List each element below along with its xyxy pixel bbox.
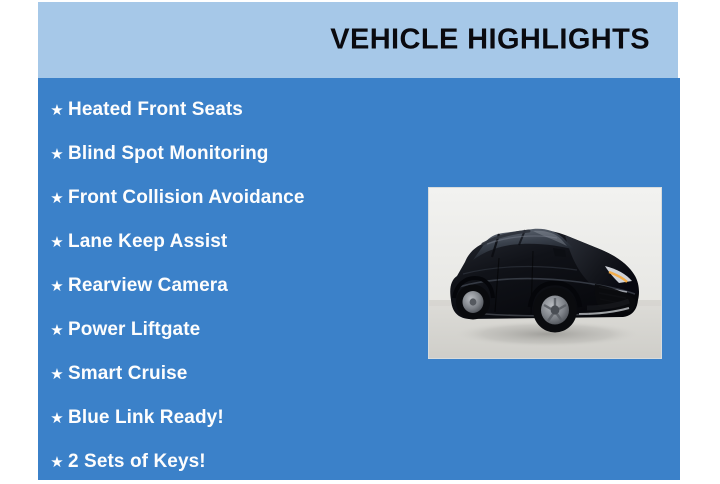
list-item: ★ Heated Front Seats [46, 88, 446, 132]
list-item-label: Front Collision Avoidance [68, 187, 305, 209]
list-item-label: Smart Cruise [68, 363, 187, 385]
highlights-panel: ★ Heated Front Seats ★ Blind Spot Monito… [38, 78, 680, 480]
header-band: VEHICLE HIGHLIGHTS [38, 2, 678, 78]
highlights-list: ★ Heated Front Seats ★ Blind Spot Monito… [46, 88, 446, 484]
star-icon: ★ [46, 367, 68, 382]
page-title: VEHICLE HIGHLIGHTS [330, 24, 650, 57]
list-item-label: Heated Front Seats [68, 99, 243, 121]
list-item-label: Power Liftgate [68, 319, 200, 341]
list-item-label: Lane Keep Assist [68, 231, 227, 253]
list-item: ★ Blue Link Ready! [46, 396, 446, 440]
vehicle-photo [429, 188, 661, 358]
star-icon: ★ [46, 411, 68, 426]
star-icon: ★ [46, 323, 68, 338]
list-item: ★ Smart Cruise [46, 352, 446, 396]
list-item-label: 2 Sets of Keys! [68, 451, 206, 473]
star-icon: ★ [46, 235, 68, 250]
star-icon: ★ [46, 103, 68, 118]
vehicle-highlights-slide: VEHICLE HIGHLIGHTS ★ Heated Front Seats … [0, 0, 720, 480]
rear-wheel [456, 285, 490, 320]
list-item: ★ Lane Keep Assist [46, 220, 446, 264]
list-item-label: Blind Spot Monitoring [68, 143, 269, 165]
star-icon: ★ [46, 147, 68, 162]
star-icon: ★ [46, 455, 68, 470]
list-item-label: Rearview Camera [68, 275, 228, 297]
front-wheel [533, 288, 577, 333]
vehicle-photo-image [429, 188, 661, 358]
list-item: ★ Blind Spot Monitoring [46, 132, 446, 176]
list-item: ★ Rearview Camera [46, 264, 446, 308]
list-item: ★ Front Collision Avoidance [46, 176, 446, 220]
list-item: ★ Power Liftgate [46, 308, 446, 352]
star-icon: ★ [46, 279, 68, 294]
list-item: ★ 2 Sets of Keys! [46, 440, 446, 484]
list-item-label: Blue Link Ready! [68, 407, 224, 429]
star-icon: ★ [46, 191, 68, 206]
